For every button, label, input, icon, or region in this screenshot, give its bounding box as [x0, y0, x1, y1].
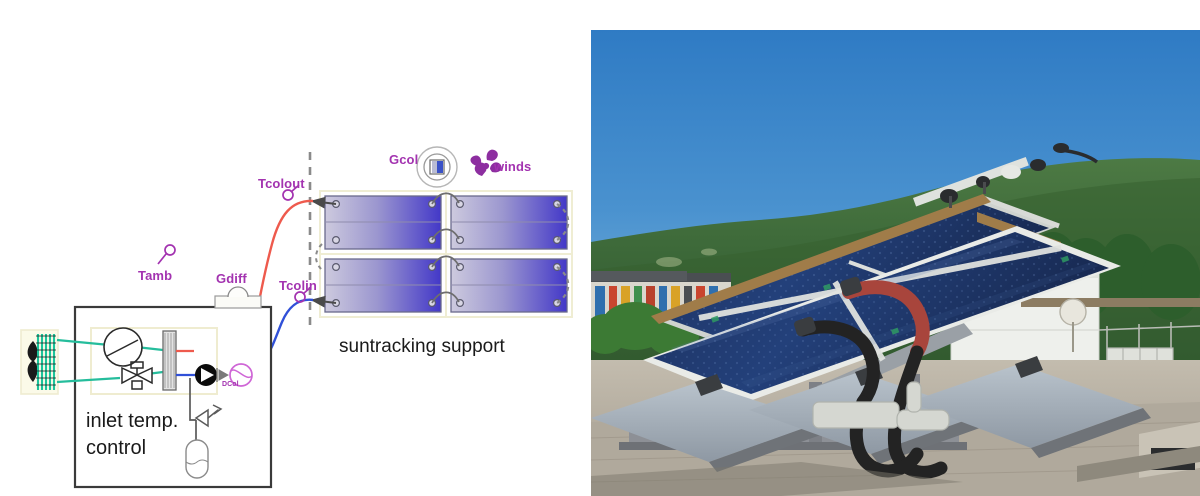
label-gcol: Gcol — [389, 152, 418, 167]
plate-heat-exchanger — [163, 331, 176, 390]
label-gdiff: Gdiff — [216, 271, 247, 286]
circulation-pump — [104, 328, 142, 366]
label-tcolin: Tcolin — [279, 278, 317, 293]
gdiff-plinth — [215, 296, 261, 308]
label-tamb: Tamb — [138, 268, 172, 283]
label-winds: winds — [494, 159, 531, 174]
collector-loop-pump — [195, 364, 217, 386]
installation-photograph — [591, 30, 1200, 496]
system-schematic-panel: Tamb Gdiff Tcolout Tcolin Gcol winds DCo… — [0, 0, 591, 496]
dry-cooler-group — [21, 330, 58, 394]
photo-canvas — [591, 30, 1200, 496]
gcol-pyranometer-icon — [417, 147, 457, 187]
round-sign — [1060, 299, 1086, 325]
label-tcolout: Tcolout — [258, 176, 305, 191]
figure-root: Tamb Gdiff Tcolout Tcolin Gcol winds DCo… — [0, 0, 1200, 496]
label-dcol: DCol — [222, 381, 239, 388]
label-inlet-temp-control: inlet temp. control — [86, 408, 236, 462]
tamb-sensor-icon — [158, 245, 175, 264]
pergola-beam — [1021, 298, 1200, 307]
gdiff-dome — [228, 287, 248, 297]
label-suntracking-support: suntracking support — [339, 336, 505, 358]
